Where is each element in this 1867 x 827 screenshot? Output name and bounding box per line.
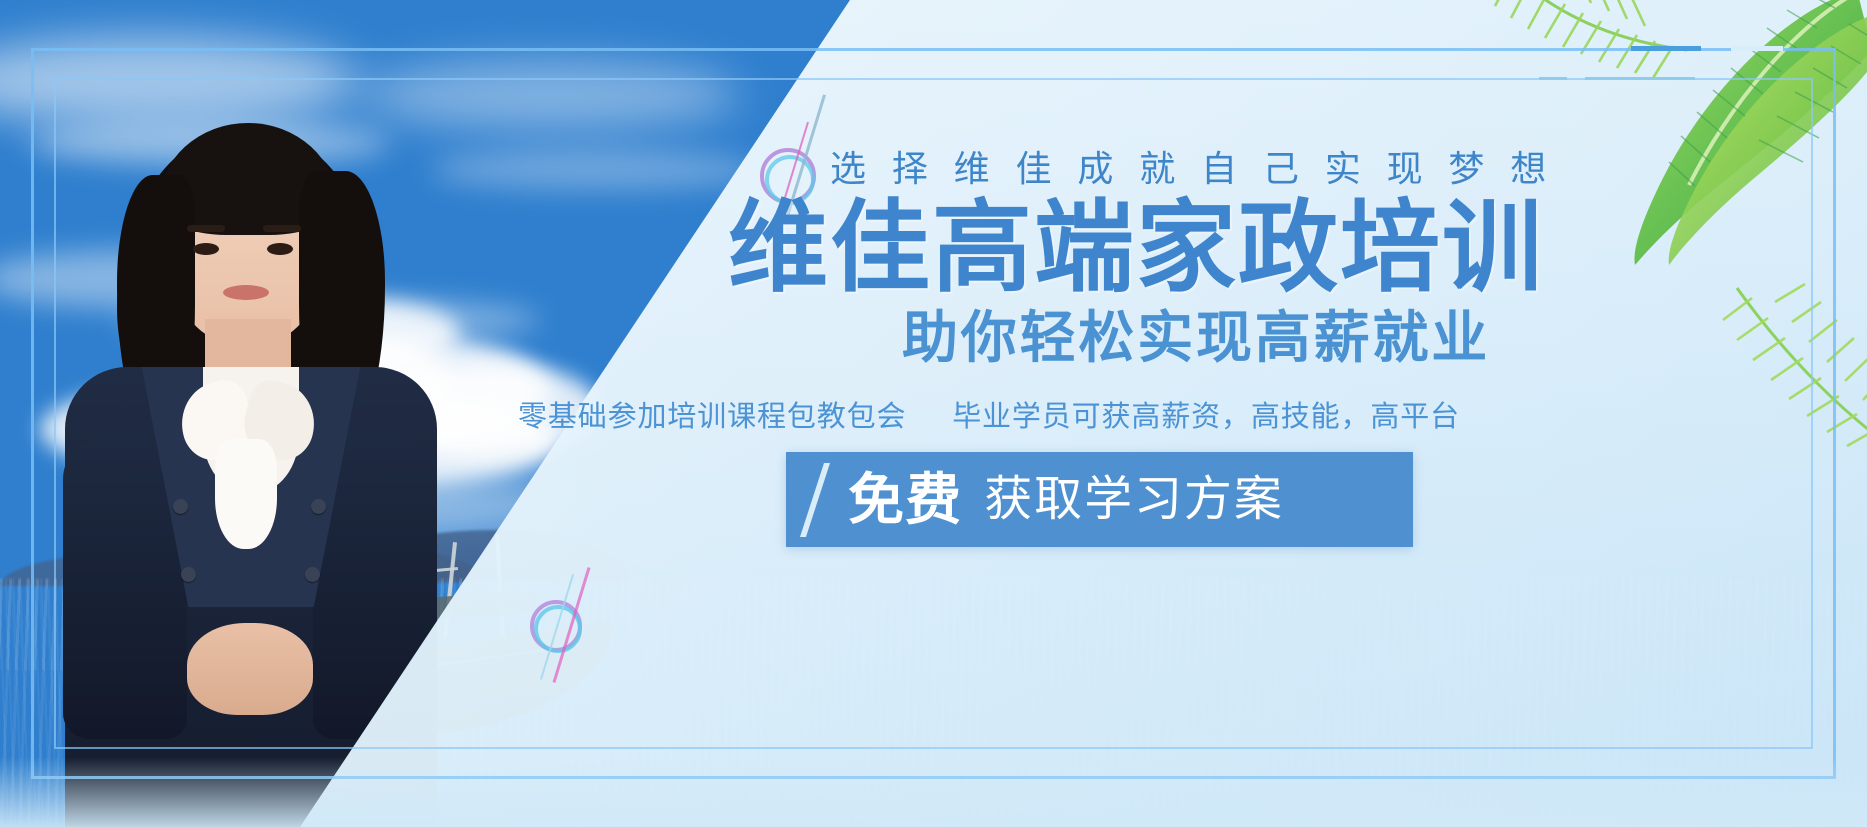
cta-slash-icon [800, 463, 830, 537]
description-part-2: 毕业学员可获高薪资，高技能，高平台 [952, 401, 1460, 433]
banner-subheadline: 助你轻松实现高薪就业 [902, 310, 1490, 366]
cta-button[interactable]: 免费 获取学习方案 [786, 452, 1413, 547]
banner-headline: 维佳高端家政培训 [728, 198, 1544, 298]
cta-action-label: 获取学习方案 [984, 476, 1284, 524]
promo-banner: 选 择 维 佳 成 就 自 己 实 现 梦 想 维佳高端家政培训 助你轻松实现高… [0, 0, 1867, 827]
banner-content: 选 择 维 佳 成 就 自 己 实 现 梦 想 维佳高端家政培训 助你轻松实现高… [470, 0, 1867, 827]
description-part-1: 零基础参加培训课程包教包会 [518, 401, 906, 433]
banner-tagline: 选 择 维 佳 成 就 自 己 实 现 梦 想 [830, 140, 1554, 192]
cta-highlight-label: 免费 [848, 472, 962, 528]
banner-description: 零基础参加培训课程包教包会 毕业学员可获高薪资，高技能，高平台 [518, 393, 1460, 435]
